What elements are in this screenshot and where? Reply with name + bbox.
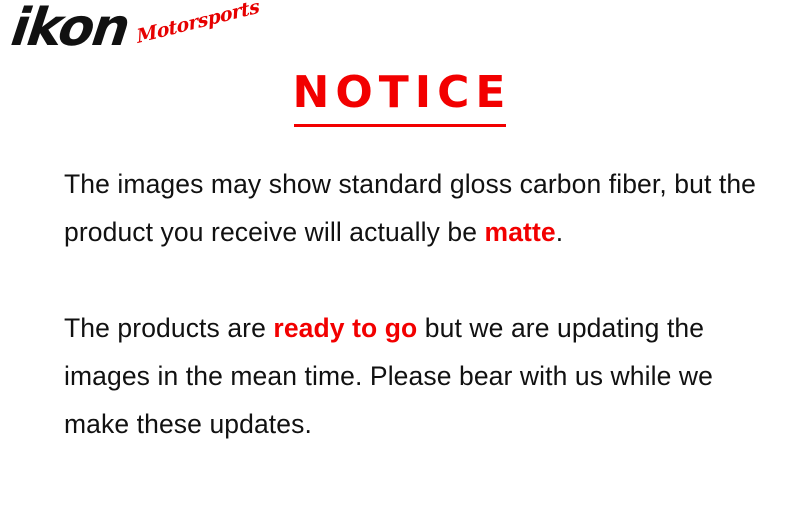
notice-heading: NOTICE [0, 68, 800, 127]
notice-page: { "brand": { "wordmark": "ikon", "script… [0, 0, 800, 510]
notice-paragraph-1: The images may show standard gloss carbo… [64, 160, 764, 256]
brand-script-motorsports: Motorsports [136, 0, 261, 47]
paragraph-2-text-lead: The products are [64, 313, 273, 343]
notice-body: The images may show standard gloss carbo… [64, 160, 764, 448]
paragraph-1-text-tail: . [556, 217, 563, 247]
paragraph-1-highlight: matte [485, 217, 556, 247]
paragraph-2-highlight: ready to go [273, 313, 417, 343]
brand-wordmark-ikon: ikon [4, 2, 137, 54]
page-title: NOTICE [283, 68, 518, 118]
title-underline [294, 124, 506, 127]
notice-paragraph-2: The products are ready to go but we are … [64, 304, 764, 448]
brand-logo: ikon Motorsports [0, 0, 250, 72]
paragraph-spacer [64, 256, 764, 304]
paragraph-1-text-lead: The images may show standard gloss carbo… [64, 169, 756, 247]
